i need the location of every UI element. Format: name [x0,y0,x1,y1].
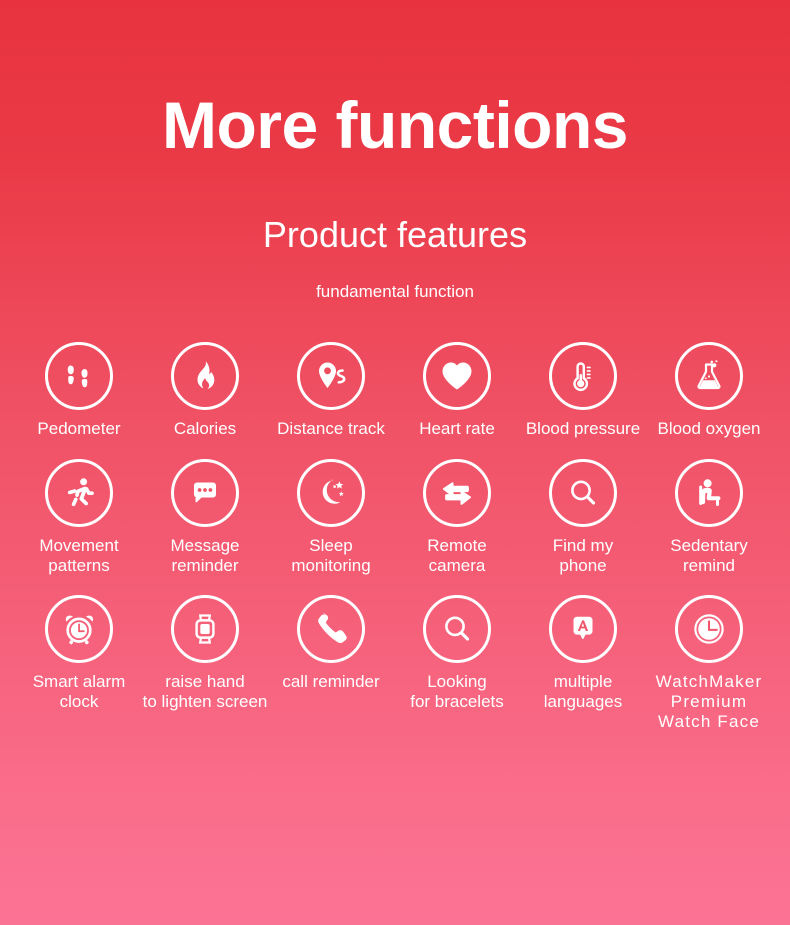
feature-label: Blood oxygen [657,419,760,439]
heart-icon [423,342,491,410]
clock-icon [675,595,743,663]
feature-item-distance-track[interactable]: Distance track [268,342,394,439]
feature-item-multiple-languages[interactable]: multiple languages [520,595,646,732]
seated-person-icon [675,459,743,527]
flame-icon [171,342,239,410]
feature-item-call-reminder[interactable]: call reminder [268,595,394,732]
magnifier-icon [549,459,617,527]
page-root: More functions Product features fundamen… [0,0,790,925]
feature-label: Blood pressure [526,419,640,439]
feature-item-looking-for-bracelets[interactable]: Looking for bracelets [394,595,520,732]
footprints-icon [45,342,113,410]
chat-bubble-icon [171,459,239,527]
feature-item-movement-patterns[interactable]: Movement patterns [16,459,142,576]
section-subtitle: fundamental function [0,253,790,300]
hero-title: More functions [0,0,790,158]
feature-item-smart-alarm-clock[interactable]: Smart alarm clock [16,595,142,732]
feature-item-blood-pressure[interactable]: Blood pressure [520,342,646,439]
feature-row: Pedometer Calories Distance track [0,342,790,439]
flask-icon [675,342,743,410]
two-way-arrows-icon [423,459,491,527]
feature-label: Find my phone [553,536,613,576]
feature-label: multiple languages [544,672,622,712]
running-person-icon [45,459,113,527]
feature-label: Heart rate [419,419,495,439]
language-bubble-icon [549,595,617,663]
feature-item-sleep-monitoring[interactable]: Sleep monitoring [268,459,394,576]
feature-item-watchmaker[interactable]: WatchMaker Premium Watch Face [646,595,772,732]
feature-label: call reminder [282,672,379,692]
feature-label: Smart alarm clock [33,672,126,712]
thermometer-icon [549,342,617,410]
phone-handset-icon [297,595,365,663]
moon-stars-icon [297,459,365,527]
smartwatch-icon [171,595,239,663]
feature-label: Calories [174,419,236,439]
map-pin-route-icon [297,342,365,410]
feature-label: Message reminder [171,536,240,576]
feature-item-sedentary-remind[interactable]: Sedentary remind [646,459,772,576]
magnifier-icon [423,595,491,663]
feature-label: Sedentary remind [670,536,748,576]
feature-label: Sleep monitoring [291,536,370,576]
feature-label: raise hand to lighten screen [143,672,268,712]
feature-label: Looking for bracelets [410,672,504,712]
feature-row: Movement patterns Message reminder [0,459,790,576]
feature-label: Distance track [277,419,385,439]
feature-item-pedometer[interactable]: Pedometer [16,342,142,439]
feature-grid: Pedometer Calories Distance track [0,300,790,732]
feature-item-blood-oxygen[interactable]: Blood oxygen [646,342,772,439]
feature-label: Pedometer [37,419,120,439]
feature-item-find-my-phone[interactable]: Find my phone [520,459,646,576]
feature-item-remote-camera[interactable]: Remote camera [394,459,520,576]
feature-label: Movement patterns [39,536,118,576]
section-title: Product features [0,158,790,253]
feature-label: WatchMaker Premium Watch Face [656,672,763,732]
feature-item-raise-hand[interactable]: raise hand to lighten screen [142,595,268,732]
feature-item-heart-rate[interactable]: Heart rate [394,342,520,439]
feature-row: Smart alarm clock raise hand to lighten … [0,595,790,732]
feature-label: Remote camera [427,536,487,576]
feature-item-message-reminder[interactable]: Message reminder [142,459,268,576]
feature-item-calories[interactable]: Calories [142,342,268,439]
alarm-clock-icon [45,595,113,663]
